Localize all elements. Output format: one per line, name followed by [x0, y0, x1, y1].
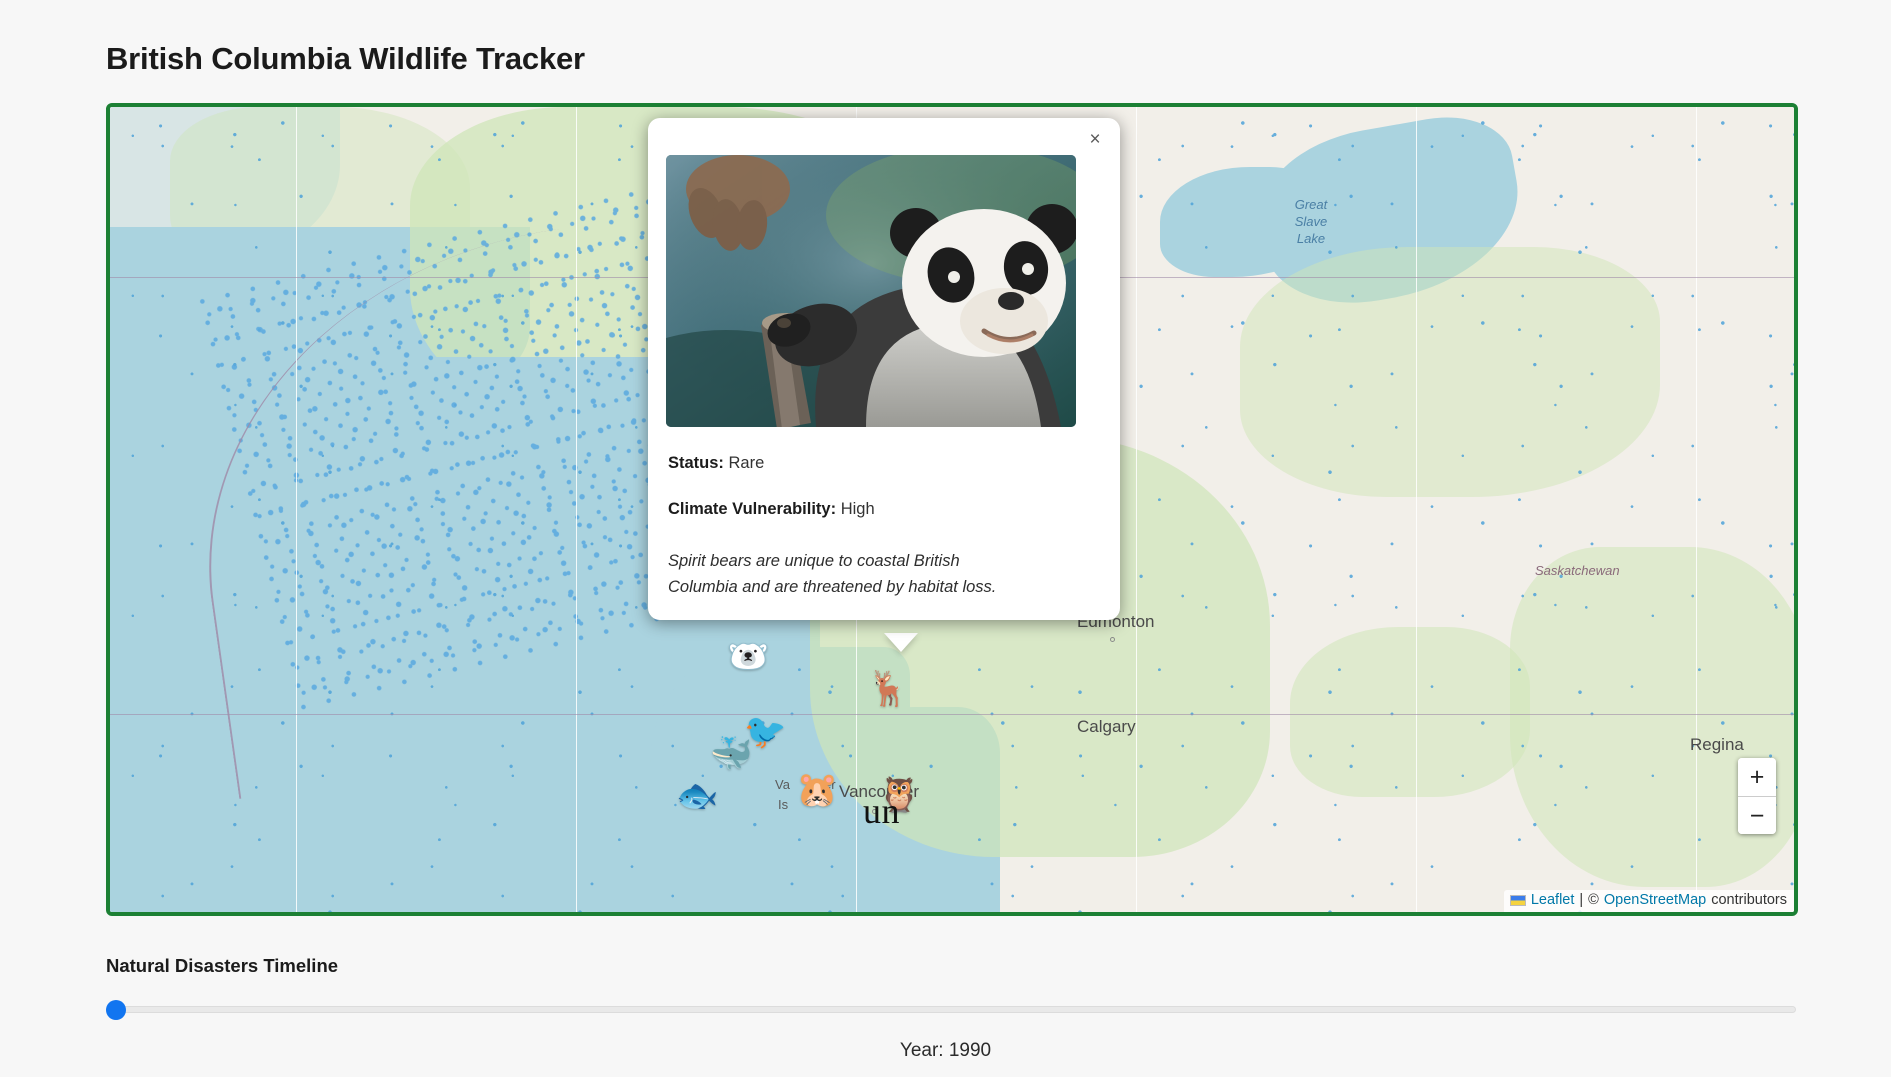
tile-seam	[1696, 107, 1697, 912]
zoom-controls[interactable]: + −	[1738, 758, 1776, 834]
year-label: Year: 1990	[0, 1040, 1891, 1062]
timeline-slider[interactable]	[106, 1000, 1796, 1020]
panda-photo	[666, 155, 1076, 427]
app-root: British Columbia Wildlife Tracker	[0, 0, 1891, 1077]
ukraine-flag-icon	[1510, 895, 1526, 906]
status-row: Status: Rare	[668, 453, 1100, 473]
marker-deer[interactable]: 🦌	[867, 672, 909, 706]
leaflet-link[interactable]: Leaflet	[1531, 891, 1575, 910]
map-attribution[interactable]: Leaflet | © OpenStreetMap contributors	[1504, 890, 1794, 912]
zoom-in-button[interactable]: +	[1738, 758, 1776, 796]
marker-tooltip-fragment: un	[863, 790, 900, 832]
copyright-symbol: ©	[1588, 891, 1599, 910]
marker-polar-bear[interactable]: 🐻‍❄️	[727, 640, 769, 674]
slider-thumb[interactable]	[106, 1000, 126, 1020]
marker-hamster[interactable]: 🐹	[796, 773, 838, 807]
marker-fish[interactable]: 🐟	[676, 779, 718, 813]
tile-seam	[1416, 107, 1417, 912]
zoom-out-button[interactable]: −	[1738, 796, 1776, 834]
openstreetmap-link[interactable]: OpenStreetMap	[1604, 891, 1706, 910]
tile-seam	[1136, 107, 1137, 912]
timeline-title: Natural Disasters Timeline	[106, 955, 338, 977]
page-title: British Columbia Wildlife Tracker	[106, 41, 585, 77]
status-label: Status:	[668, 454, 724, 472]
status-value: Rare	[729, 454, 765, 472]
attribution-separator: |	[1579, 891, 1583, 910]
attribution-contributors: contributors	[1711, 891, 1787, 910]
marker-whale[interactable]: 🐳	[710, 737, 752, 771]
species-description: Spirit bears are unique to coastal Briti…	[668, 548, 1008, 600]
close-icon[interactable]: ×	[1082, 126, 1108, 152]
species-photo	[666, 155, 1076, 427]
popup-body: Status: Rare Climate Vulnerability: High…	[666, 453, 1102, 600]
province-border	[110, 714, 1794, 715]
popup-pointer	[884, 633, 918, 652]
vulnerability-value: High	[841, 500, 875, 518]
tile-seam	[576, 107, 577, 912]
city-dot-edmonton	[1110, 637, 1115, 642]
vulnerability-label: Climate Vulnerability:	[668, 500, 836, 518]
tile-seam	[296, 107, 297, 912]
vulnerability-row: Climate Vulnerability: High	[668, 499, 1100, 519]
species-popup[interactable]: ×	[648, 118, 1120, 620]
slider-track[interactable]	[106, 1006, 1796, 1013]
